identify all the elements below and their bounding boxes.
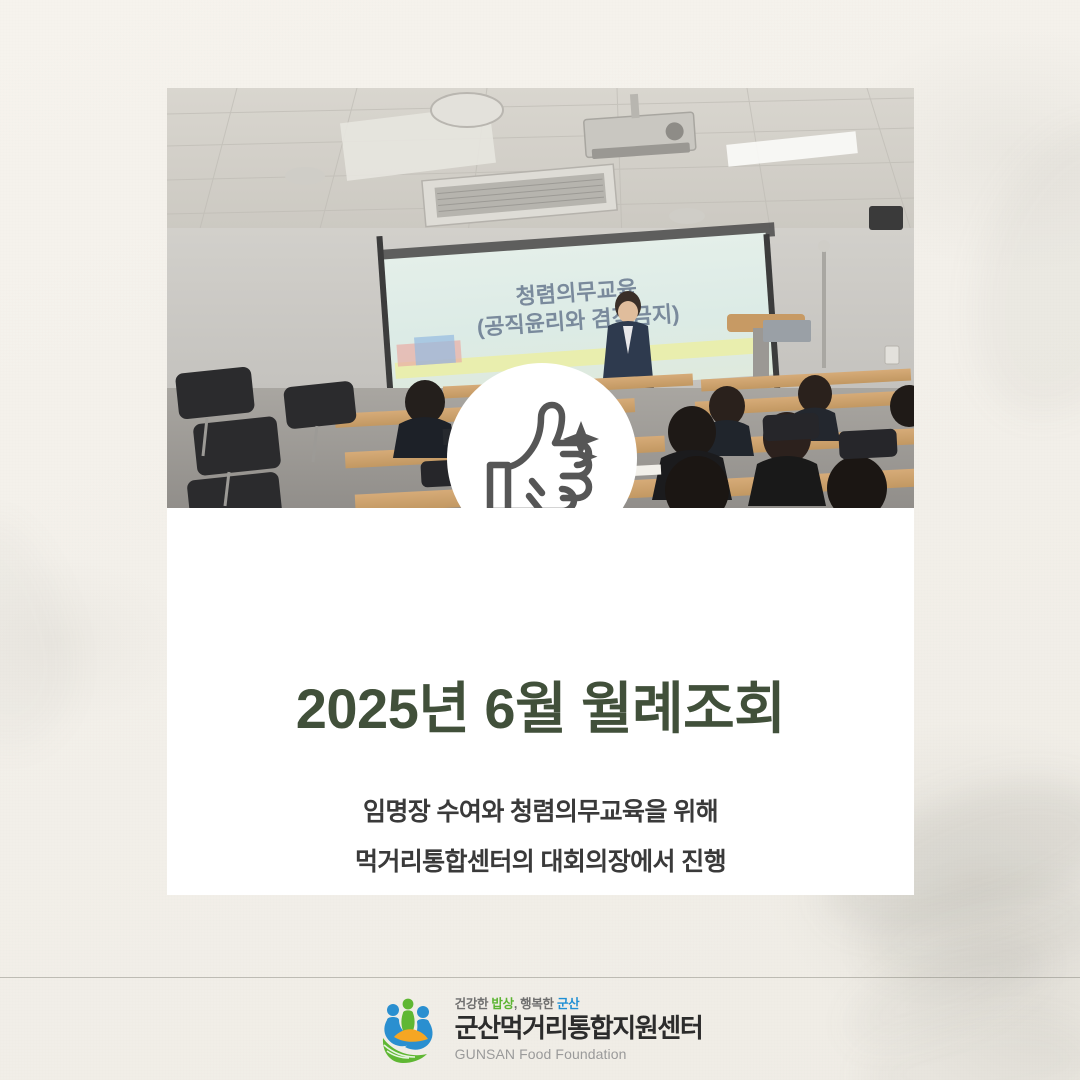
leaf-shadow-icon: [951, 106, 1080, 435]
subtitle-line-2: 먹거리통합센터의 대회의장에서 진행: [167, 837, 914, 887]
content-card: 청렴의무교육 (공직윤리와 겸직금지): [167, 88, 914, 895]
tagline-blue: 군산: [557, 997, 579, 1011]
footer-logo-lockup[interactable]: 건강한 밥상, 행복한 군산 군산먹거리통합지원센터 GUNSAN Food F…: [378, 997, 703, 1063]
logo-tagline: 건강한 밥상, 행복한 군산: [455, 997, 703, 1013]
footer-logo-text: 건강한 밥상, 행복한 군산 군산먹거리통합지원센터 GUNSAN Food F…: [455, 997, 703, 1063]
gunsan-food-foundation-logo-icon: [378, 997, 444, 1063]
subtitle-line-1: 임명장 수여와 청렴의무교육을 위해: [167, 787, 914, 837]
footer: 건강한 밥상, 행복한 군산 군산먹거리통합지원센터 GUNSAN Food F…: [0, 978, 1080, 1080]
organization-name-en: GUNSAN Food Foundation: [455, 1045, 703, 1063]
event-photo: 청렴의무교육 (공직윤리와 겸직금지): [167, 88, 914, 508]
tagline-prefix: 건강한: [455, 997, 492, 1011]
text-block: 2025년 6월 월례조회 임명장 수여와 청렴의무교육을 위해 먹거리통합센터…: [167, 508, 914, 887]
tagline-green: 밥상: [491, 997, 513, 1011]
organization-name: 군산먹거리통합지원센터: [455, 1014, 703, 1043]
page-subtitle: 임명장 수여와 청렴의무교육을 위해 먹거리통합센터의 대회의장에서 진행: [167, 741, 914, 887]
leaf-shadow-icon: [0, 508, 92, 762]
page-title: 2025년 6월 월례조회: [167, 508, 914, 741]
tagline-middle: , 행복한: [514, 997, 557, 1011]
